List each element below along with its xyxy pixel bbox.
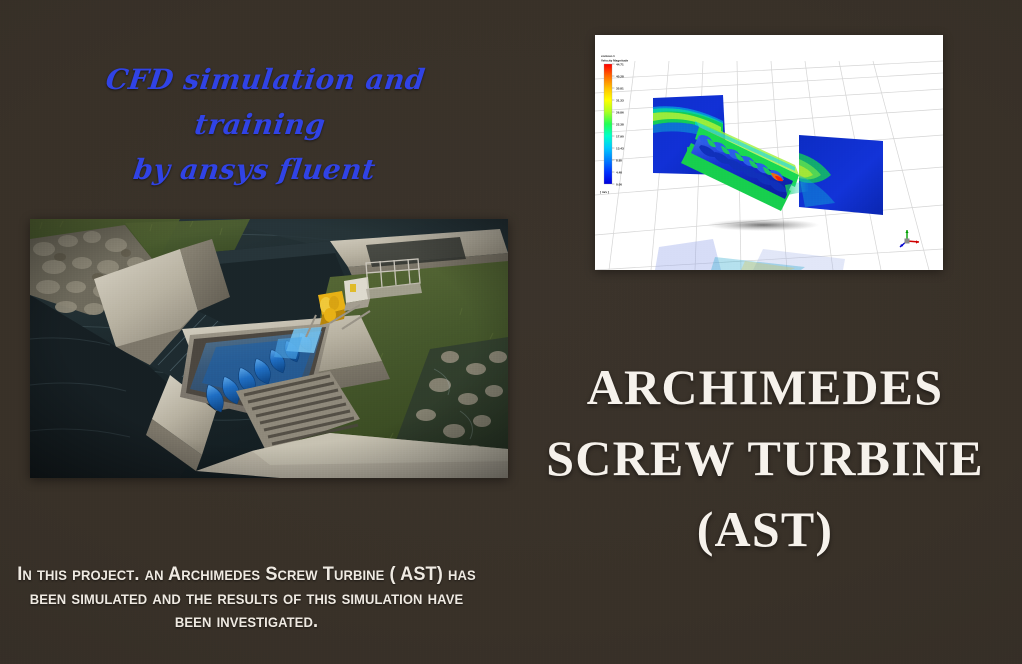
svg-text:4.48: 4.48 bbox=[616, 170, 622, 174]
title-line-3: (AST) bbox=[515, 494, 1015, 565]
svg-text:13.43: 13.43 bbox=[616, 146, 624, 150]
caption-line-1: In this project. an Archimedes Screw Tur… bbox=[14, 563, 479, 587]
caption-line-3: been investigated. bbox=[14, 610, 479, 634]
svg-text:0.00: 0.00 bbox=[616, 182, 622, 186]
svg-text:40.28: 40.28 bbox=[616, 74, 624, 78]
svg-text:22.38: 22.38 bbox=[616, 122, 624, 126]
svg-text:31.33: 31.33 bbox=[616, 98, 624, 102]
caption-line-2: been simulated and the results of this s… bbox=[14, 587, 479, 611]
svg-text:26.86: 26.86 bbox=[616, 110, 624, 114]
script-heading-line-2: by ansys fluent bbox=[32, 147, 478, 192]
title-line-1: ARCHIMEDES bbox=[515, 352, 1015, 423]
presentation-slide: CFD simulation and training by ansys flu… bbox=[0, 0, 1022, 664]
description-caption: In this project. an Archimedes Screw Tur… bbox=[14, 563, 479, 634]
svg-text:Velocity Magnitude: Velocity Magnitude bbox=[601, 59, 629, 63]
svg-text:8.95: 8.95 bbox=[616, 158, 622, 162]
ast-installation-photo bbox=[30, 219, 508, 478]
page-title: ARCHIMEDES SCREW TURBINE (AST) bbox=[515, 352, 1015, 565]
svg-text:35.81: 35.81 bbox=[616, 86, 624, 90]
svg-text:17.90: 17.90 bbox=[616, 134, 624, 138]
svg-text:contour-1: contour-1 bbox=[601, 54, 615, 58]
cfd-velocity-contour-render: contour-1 Velocity Magnitude 44.71 40.28… bbox=[595, 35, 943, 270]
svg-text:[ m/s ]: [ m/s ] bbox=[600, 190, 609, 194]
svg-text:44.71: 44.71 bbox=[616, 62, 624, 66]
title-line-2: SCREW TURBINE bbox=[515, 423, 1015, 494]
script-heading: CFD simulation and training by ansys flu… bbox=[32, 57, 489, 192]
script-heading-line-1: CFD simulation and training bbox=[104, 63, 427, 141]
